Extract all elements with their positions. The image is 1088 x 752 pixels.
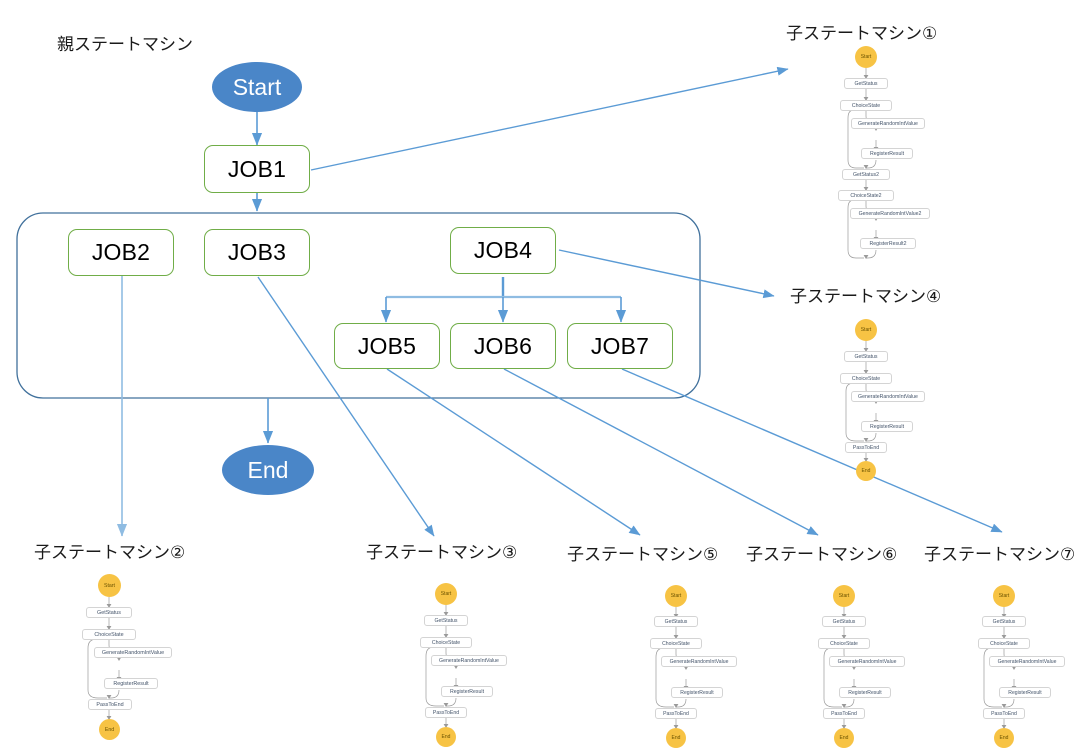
sm3-state-register[interactable]: RegisterResult — [441, 686, 493, 697]
start-node[interactable]: Start — [212, 62, 302, 112]
sub-label-3: 子ステートマシン③ — [366, 538, 517, 563]
sm2-state-generate[interactable]: GenerateRandomIntValue — [94, 647, 172, 658]
arrow-job3-to-sub3 — [258, 277, 434, 536]
job-node-job7[interactable]: JOB7 — [567, 323, 673, 369]
sm3-state-end[interactable]: End — [436, 727, 456, 747]
sm7-state-getstatus[interactable]: GetStatus — [982, 616, 1026, 627]
arrow-job5-to-sub5 — [387, 369, 640, 535]
sm3-state-getstatus[interactable]: GetStatus — [424, 615, 468, 626]
sm4-state-end[interactable]: End — [856, 461, 876, 481]
sm5-state-passtoend[interactable]: PassToEnd — [655, 708, 697, 719]
sm6-state-generate[interactable]: GenerateRandomIntValue — [829, 656, 905, 667]
job-node-job3[interactable]: JOB3 — [204, 229, 310, 276]
sm5-state-choicestate[interactable]: ChoiceState — [650, 638, 702, 649]
sm1-state-generate[interactable]: GenerateRandomIntValue — [851, 118, 925, 129]
sm2-state-start[interactable]: Start — [98, 574, 121, 597]
arrow-job6-to-sub6 — [504, 369, 818, 535]
sub-label-1: 子ステートマシン① — [786, 19, 937, 44]
arrow-job4-to-sub4 — [559, 250, 774, 296]
sm6-state-choicestate[interactable]: ChoiceState — [818, 638, 870, 649]
sm1-state-generate2[interactable]: GenerateRandomIntValue2 — [850, 208, 930, 219]
sm6-state-end[interactable]: End — [834, 728, 854, 748]
sub-label-7: 子ステートマシン⑦ — [924, 540, 1075, 565]
sm5-state-end[interactable]: End — [666, 728, 686, 748]
state-machine-4: Start GetStatus ChoiceState GenerateRand… — [818, 315, 958, 485]
sm3-state-generate[interactable]: GenerateRandomIntValue — [431, 655, 507, 666]
sm4-state-start[interactable]: Start — [855, 319, 877, 341]
sm6-connectors — [797, 583, 947, 751]
job-node-job5[interactable]: JOB5 — [334, 323, 440, 369]
sm7-state-choicestate[interactable]: ChoiceState — [978, 638, 1030, 649]
sm5-state-register[interactable]: RegisterResult — [671, 687, 723, 698]
sm7-connectors — [957, 583, 1088, 751]
job-node-job1[interactable]: JOB1 — [204, 145, 310, 193]
sm1-state-start[interactable]: Start — [855, 46, 877, 68]
sm7-state-passtoend[interactable]: PassToEnd — [983, 708, 1025, 719]
state-machine-7: Start GetStatus ChoiceState GenerateRand… — [957, 583, 1088, 751]
arrow-job1-to-sub1 — [311, 69, 788, 170]
sm7-state-register[interactable]: RegisterResult — [999, 687, 1051, 698]
job-node-job4[interactable]: JOB4 — [450, 227, 556, 274]
sm1-state-register2[interactable]: RegisterResult2 — [860, 238, 916, 249]
end-node[interactable]: End — [222, 445, 314, 495]
sm5-state-start[interactable]: Start — [665, 585, 687, 607]
sub-label-5: 子ステートマシン⑤ — [567, 540, 718, 565]
parent-state-machine-label: 親ステートマシン — [57, 30, 193, 55]
state-machine-3: Start GetStatus ChoiceState GenerateRand… — [399, 580, 549, 752]
sm1-state-choicestate2[interactable]: ChoiceState2 — [838, 190, 894, 201]
sm4-state-choicestate[interactable]: ChoiceState — [840, 373, 892, 384]
sm1-state-getstatus[interactable]: GetStatus — [844, 78, 888, 89]
sm7-state-start[interactable]: Start — [993, 585, 1015, 607]
sub-label-2: 子ステートマシン② — [34, 538, 185, 563]
sub-label-4: 子ステートマシン④ — [790, 282, 941, 307]
sm4-state-generate[interactable]: GenerateRandomIntValue — [851, 391, 925, 402]
sm5-connectors — [629, 583, 779, 751]
job-node-job2[interactable]: JOB2 — [68, 229, 174, 276]
sm1-state-choicestate[interactable]: ChoiceState — [840, 100, 892, 111]
sub-label-6: 子ステートマシン⑥ — [746, 540, 897, 565]
sm3-state-start[interactable]: Start — [435, 583, 457, 605]
sm6-state-getstatus[interactable]: GetStatus — [822, 616, 866, 627]
sm1-state-getstatus2[interactable]: GetStatus2 — [842, 169, 890, 180]
sm2-state-passtoend[interactable]: PassToEnd — [88, 699, 132, 710]
sm3-connectors — [399, 580, 549, 752]
sm2-state-choicestate[interactable]: ChoiceState — [82, 629, 136, 640]
job-node-job6[interactable]: JOB6 — [450, 323, 556, 369]
sm4-state-getstatus[interactable]: GetStatus — [844, 351, 888, 362]
sm1-state-register[interactable]: RegisterResult — [861, 148, 913, 159]
state-machine-2: Start GetStatus ChoiceState GenerateRand… — [60, 570, 210, 745]
sm5-state-generate[interactable]: GenerateRandomIntValue — [661, 656, 737, 667]
sm4-state-passtoend[interactable]: PassToEnd — [845, 442, 887, 453]
sm2-state-getstatus[interactable]: GetStatus — [86, 607, 132, 618]
sm7-state-end[interactable]: End — [994, 728, 1014, 748]
diagram-canvas: 親ステートマシン Start JOB1 JOB2 JOB3 JOB4 JOB5 … — [0, 0, 1088, 752]
sm6-state-passtoend[interactable]: PassToEnd — [823, 708, 865, 719]
sm2-state-end[interactable]: End — [99, 719, 120, 740]
sm4-state-register[interactable]: RegisterResult — [861, 421, 913, 432]
sm2-state-register[interactable]: RegisterResult — [104, 678, 158, 689]
state-machine-6: Start GetStatus ChoiceState GenerateRand… — [797, 583, 947, 751]
sm6-state-start[interactable]: Start — [833, 585, 855, 607]
sm3-state-choicestate[interactable]: ChoiceState — [420, 637, 472, 648]
sm6-state-register[interactable]: RegisterResult — [839, 687, 891, 698]
state-machine-1: Start GetStatus ChoiceState GenerateRand… — [818, 42, 958, 272]
sm5-state-getstatus[interactable]: GetStatus — [654, 616, 698, 627]
sm3-state-passtoend[interactable]: PassToEnd — [425, 707, 467, 718]
sm7-state-generate[interactable]: GenerateRandomIntValue — [989, 656, 1065, 667]
state-machine-5: Start GetStatus ChoiceState GenerateRand… — [629, 583, 779, 751]
